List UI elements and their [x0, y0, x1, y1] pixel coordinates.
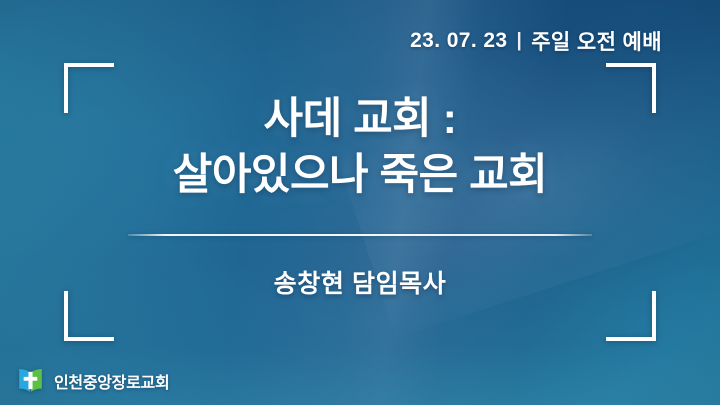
service-name: 주일 오전 예배: [531, 26, 662, 56]
slide-content: 사데 교회 : 살아있으나 죽은 교회 송창현 담임목사: [0, 92, 720, 300]
header-meta: 23. 07. 23 | 주일 오전 예배: [410, 26, 662, 56]
open-book-cross-icon: [16, 366, 45, 395]
sermon-title: 사데 교회 : 살아있으나 죽은 교회: [173, 92, 547, 204]
church-name: 인천중앙장로교회: [54, 369, 169, 393]
header-separator: |: [516, 30, 522, 52]
title-divider: [128, 234, 592, 236]
sermon-title-slide: 23. 07. 23 | 주일 오전 예배 사데 교회 : 살아있으나 죽은 교…: [0, 0, 720, 405]
sermon-title-line-1: 사데 교회 :: [173, 92, 547, 148]
speaker-name: 송창현 담임목사: [274, 264, 447, 300]
service-date: 23. 07. 23: [410, 29, 507, 53]
church-logo: 인천중앙장로교회: [16, 366, 169, 395]
sermon-title-line-2: 살아있으나 죽은 교회: [173, 148, 547, 204]
